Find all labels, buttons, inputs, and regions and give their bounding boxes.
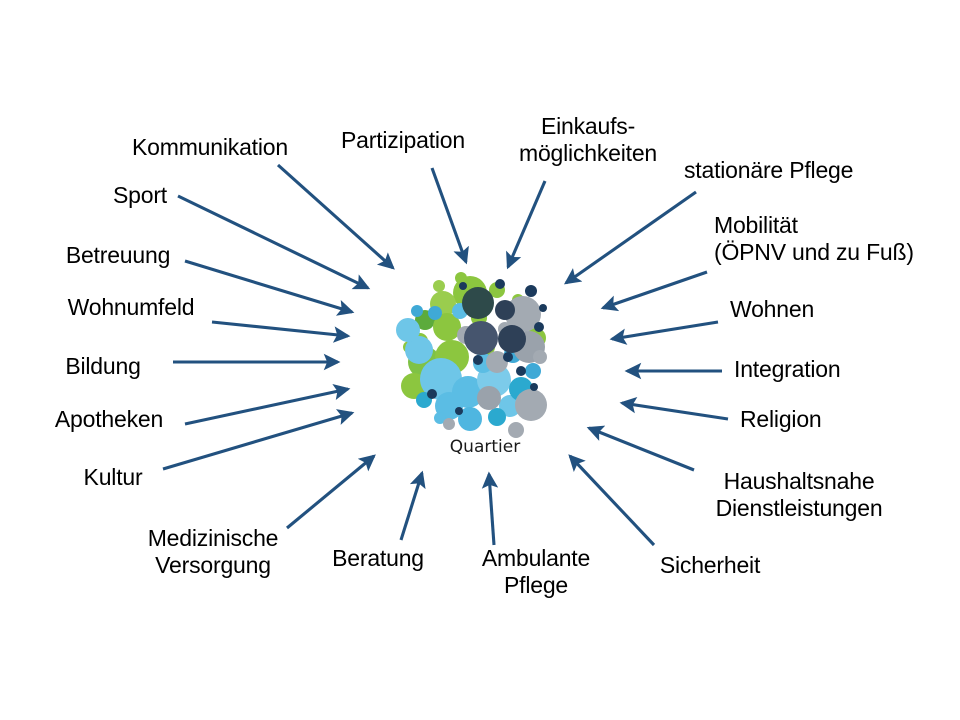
node-label-wohnumfeld[interactable]: Wohnumfeld	[48, 294, 214, 321]
quartier-diagram: Kommunikation Partizipation Einkaufs- mö…	[0, 0, 960, 720]
node-label-kommunikation[interactable]: Kommunikation	[110, 134, 310, 161]
node-label-sport[interactable]: Sport	[100, 182, 180, 209]
node-label-medizinische-versorgung[interactable]: Medizinische Versorgung	[124, 525, 302, 579]
node-label-beratung[interactable]: Beratung	[313, 545, 443, 572]
node-label-bildung[interactable]: Bildung	[42, 353, 164, 380]
node-label-einkaufsmoeglichkeiten[interactable]: Einkaufs- möglichkeiten	[498, 113, 678, 167]
node-label-kultur[interactable]: Kultur	[68, 464, 158, 491]
node-label-religion[interactable]: Religion	[740, 406, 870, 433]
node-label-integration[interactable]: Integration	[734, 356, 894, 383]
node-label-haushaltsnahe-dienstleistungen[interactable]: Haushaltsnahe Dienstleistungen	[690, 468, 908, 522]
center-label-quartier: Quartier	[415, 437, 555, 457]
node-label-ambulante-pflege[interactable]: Ambulante Pflege	[466, 545, 606, 599]
node-label-partizipation[interactable]: Partizipation	[327, 127, 479, 154]
node-label-apotheken[interactable]: Apotheken	[38, 406, 180, 433]
node-label-stationaere-pflege[interactable]: stationäre Pflege	[684, 157, 894, 184]
node-label-betreuung[interactable]: Betreuung	[50, 242, 186, 269]
node-label-mobilitaet[interactable]: Mobilität (ÖPNV und zu Fuß)	[714, 212, 960, 266]
node-label-wohnen[interactable]: Wohnen	[730, 296, 860, 323]
node-label-sicherheit[interactable]: Sicherheit	[642, 552, 778, 579]
